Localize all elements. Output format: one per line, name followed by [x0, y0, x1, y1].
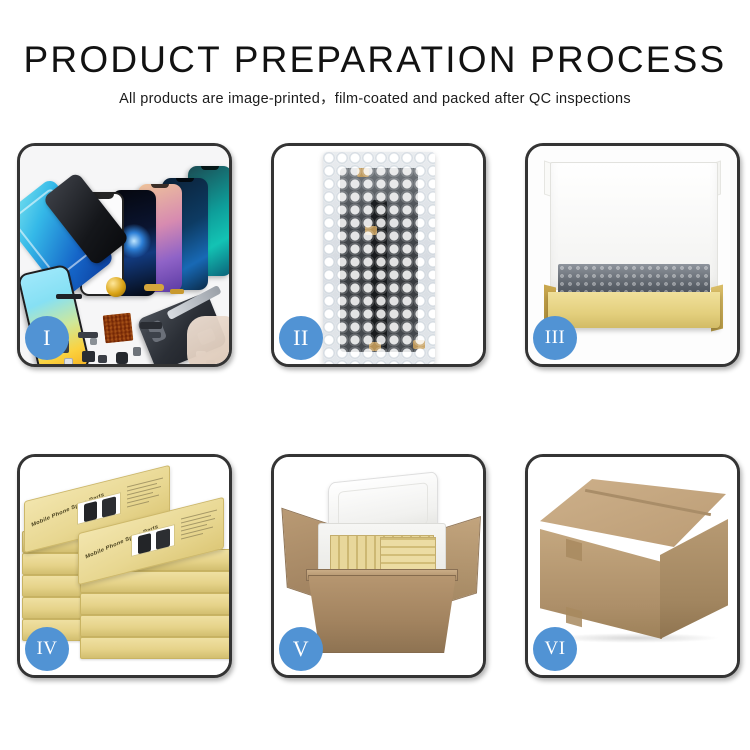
process-step-panel-2[interactable]: II	[271, 143, 486, 367]
step-badge-2: II	[279, 316, 323, 360]
spare-part-icon	[64, 358, 73, 364]
process-step-panel-1[interactable]: I	[17, 143, 232, 367]
page-subtitle: All products are image-printed，film-coat…	[0, 90, 750, 108]
spare-part-icon	[98, 355, 107, 363]
spare-part-icon	[133, 347, 141, 356]
box-spec-lines	[181, 509, 219, 548]
step-badge-1: I	[25, 316, 69, 360]
product-preparation-page: PRODUCT PREPARATION PROCESS All products…	[0, 0, 750, 750]
step-badge-5: V	[279, 627, 323, 671]
spare-part-icon	[56, 294, 82, 299]
page-header: PRODUCT PREPARATION PROCESS All products…	[0, 38, 750, 108]
stacked-box-icon	[80, 615, 229, 637]
box-window-icon	[77, 492, 121, 525]
process-step-grid: I II	[17, 143, 739, 678]
process-step-panel-3[interactable]: III	[525, 143, 740, 367]
process-step-panel-4[interactable]: Mobile Phone Spare Parts Mobile Phone Sp…	[17, 454, 232, 678]
carton-left-face-icon	[540, 529, 662, 639]
carton-body-icon	[308, 575, 456, 653]
spare-part-icon	[82, 351, 95, 362]
stacked-box-icon	[80, 637, 229, 659]
step-badge-3: III	[533, 316, 577, 360]
spare-part-icon	[140, 322, 162, 329]
spare-part-icon	[170, 289, 184, 294]
box-spec-lines	[127, 477, 165, 516]
chip-array-part-icon	[103, 313, 134, 344]
process-step-panel-6[interactable]: VI	[525, 454, 740, 678]
carton-shadow	[552, 633, 720, 643]
spare-part-icon	[144, 284, 164, 291]
yellow-box-front-icon	[548, 292, 720, 328]
hand-icon	[187, 316, 229, 364]
process-step-panel-5[interactable]: V	[271, 454, 486, 678]
page-title: PRODUCT PREPARATION PROCESS	[0, 38, 750, 82]
spare-part-icon	[146, 332, 161, 338]
stacked-box-icon	[80, 593, 229, 615]
step-badge-4: IV	[25, 627, 69, 671]
step-badge-6: VI	[533, 627, 577, 671]
spare-part-icon	[90, 338, 97, 345]
bubble-texture-overlay	[323, 152, 435, 364]
carton-tape-icon	[566, 607, 582, 628]
box-window-icon	[131, 524, 175, 557]
spare-part-icon	[116, 352, 128, 364]
gold-coil-part-icon	[106, 277, 126, 297]
